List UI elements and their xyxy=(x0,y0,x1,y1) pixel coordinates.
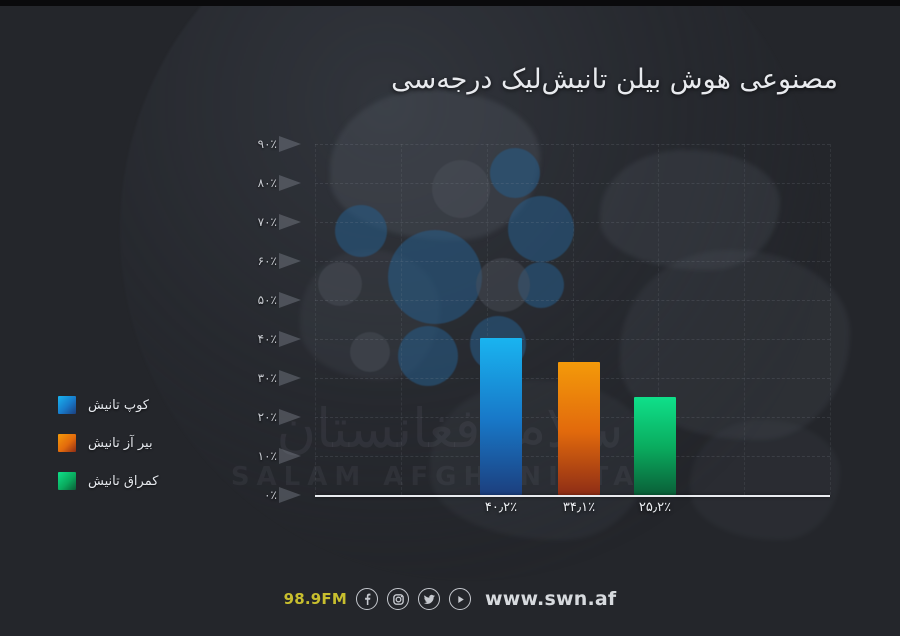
y-axis-tick-label: ۷۰٪ xyxy=(199,215,277,229)
x-axis-line xyxy=(315,495,830,497)
y-axis-arrow-marker xyxy=(279,253,301,269)
legend-color-swatch xyxy=(58,434,76,452)
legend-item[interactable]: بیر آز تانیش xyxy=(58,434,158,452)
y-axis-tick-label: ۰٪ xyxy=(199,488,277,502)
legend-item[interactable]: کمراق تانیش xyxy=(58,472,158,490)
y-axis-arrow-marker xyxy=(279,214,301,230)
y-axis-tick-label: ۲۰٪ xyxy=(199,410,277,424)
y-axis-arrow-marker xyxy=(279,136,301,152)
bar-chart: ۹۰٪۸۰٪۷۰٪۶۰٪۵۰٪۴۰٪۳۰٪۲۰٪۱۰٪۰٪۴۰٫۲٪۳۴٫۱٪۲… xyxy=(0,0,900,636)
bar-1[interactable] xyxy=(480,338,522,495)
bar-2[interactable] xyxy=(558,362,600,495)
radio-frequency-label: 98.9FM xyxy=(284,590,347,608)
twitter-icon[interactable] xyxy=(418,588,440,610)
gridline-vertical xyxy=(744,144,745,495)
y-axis-arrow-marker xyxy=(279,448,301,464)
y-axis-tick-label: ۴۰٪ xyxy=(199,332,277,346)
legend-label: کوپ تانیش xyxy=(88,398,149,413)
y-axis-arrow-marker xyxy=(279,409,301,425)
facebook-icon[interactable] xyxy=(356,588,378,610)
infographic-canvas: سلام افغانستان SALAM AFGHANISTAN مصنوعی … xyxy=(0,0,900,636)
instagram-icon[interactable] xyxy=(387,588,409,610)
bar-value-label: ۲۵٫۲٪ xyxy=(610,500,700,515)
top-black-strip xyxy=(0,0,900,6)
legend-color-swatch xyxy=(58,396,76,414)
y-axis-tick-label: ۹۰٪ xyxy=(199,137,277,151)
y-axis-tick-label: ۳۰٪ xyxy=(199,371,277,385)
website-url[interactable]: www.swn.af xyxy=(485,588,616,610)
legend-label: کمراق تانیش xyxy=(88,474,158,489)
y-axis-arrow-marker xyxy=(279,487,301,503)
chart-legend: کوپ تانیشبیر آز تانیشکمراق تانیش xyxy=(58,396,158,510)
legend-label: بیر آز تانیش xyxy=(88,436,153,451)
bar-3[interactable] xyxy=(634,397,676,495)
gridline-vertical xyxy=(401,144,402,495)
legend-color-swatch xyxy=(58,472,76,490)
footer-bar: 98.9FM www.swn.af xyxy=(0,588,900,610)
y-axis-tick-label: ۵۰٪ xyxy=(199,293,277,307)
gridline-vertical xyxy=(830,144,831,495)
gridline-vertical xyxy=(315,144,316,495)
y-axis-tick-label: ۶۰٪ xyxy=(199,254,277,268)
y-axis-tick-label: ۸۰٪ xyxy=(199,176,277,190)
bar-value-label: ۴۰٫۲٪ xyxy=(456,500,546,515)
y-axis-arrow-marker xyxy=(279,370,301,386)
plot-area xyxy=(315,144,830,495)
page-title: مصنوعی هوش بیلن تانیش‌لیک درجه‌سی xyxy=(391,64,838,95)
y-axis-arrow-marker xyxy=(279,331,301,347)
y-axis-tick-label: ۱۰٪ xyxy=(199,449,277,463)
legend-item[interactable]: کوپ تانیش xyxy=(58,396,158,414)
youtube-play-icon[interactable] xyxy=(449,588,471,610)
y-axis-arrow-marker xyxy=(279,292,301,308)
y-axis-arrow-marker xyxy=(279,175,301,191)
